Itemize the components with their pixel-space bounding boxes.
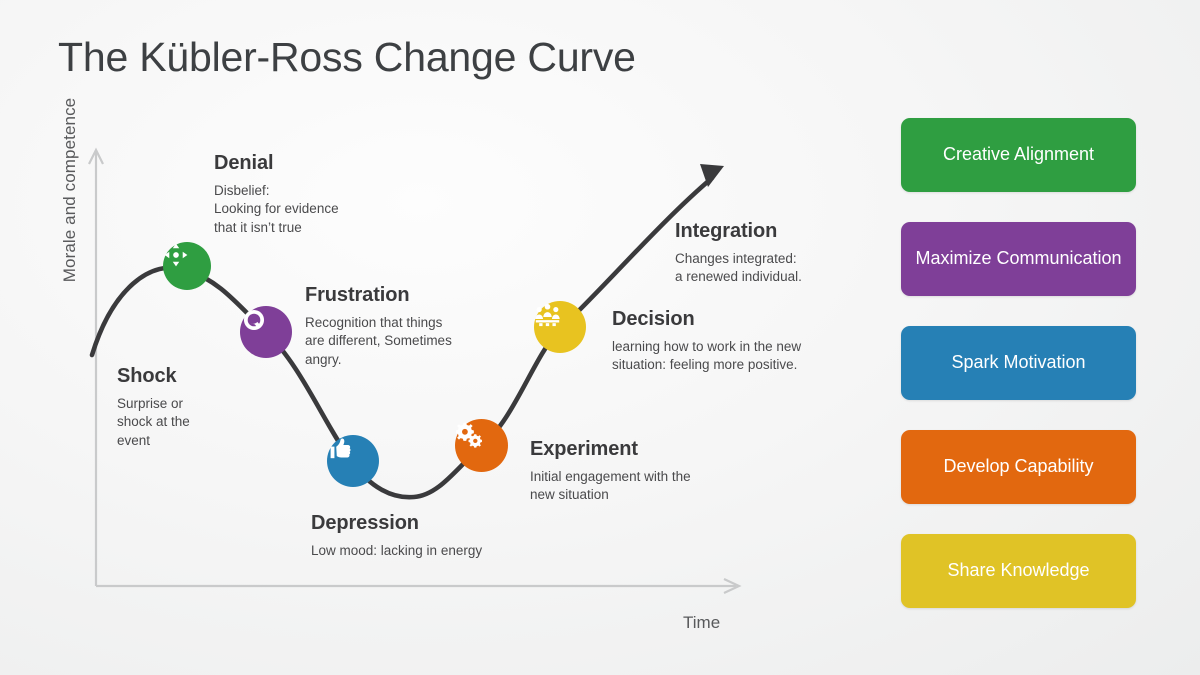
stage-annotation-denial: Denial Disbelief: Looking for evidence t… (214, 152, 339, 237)
milestone-marker-decision[interactable] (534, 301, 586, 353)
pill-label: Spark Motivation (951, 351, 1085, 374)
stage-annotation-integration: Integration Changes integrated: a renewe… (675, 220, 802, 287)
stage-description: Disbelief: Looking for evidence that it … (214, 182, 339, 237)
milestone-marker-experiment[interactable] (455, 419, 508, 472)
change-curve-chart: Morale and competence Time (0, 0, 880, 675)
stage-description: Changes integrated: a renewed individual… (675, 250, 802, 287)
search-ring-icon (240, 306, 268, 334)
pill-label: Share Knowledge (947, 559, 1089, 582)
thumbs-up-icon (327, 435, 354, 462)
milestone-marker-depression[interactable] (327, 435, 379, 487)
people-group-icon (534, 301, 561, 328)
pill-develop-capability[interactable]: Develop Capability (901, 430, 1136, 504)
milestone-marker-frustration[interactable] (240, 306, 292, 358)
pill-label: Maximize Communication (915, 247, 1121, 270)
stage-annotation-frustration: Frustration Recognition that things are … (305, 284, 452, 369)
stage-description: Recognition that things are different, S… (305, 314, 452, 369)
strategy-pill-list: Creative Alignment Maximize Communicatio… (901, 118, 1136, 638)
pill-label: Develop Capability (943, 455, 1093, 478)
move-arrows-icon (163, 242, 189, 268)
stage-description: learning how to work in the new situatio… (612, 338, 801, 375)
milestone-marker-denial[interactable] (163, 242, 211, 290)
stage-description: Initial engagement with the new situatio… (530, 468, 691, 505)
y-axis-label: Morale and competence (60, 80, 80, 300)
slide-canvas: The Kübler-Ross Change Curve Morale and … (0, 0, 1200, 675)
pill-label: Creative Alignment (943, 143, 1094, 166)
stage-description: Surprise or shock at the event (117, 395, 190, 450)
stage-annotation-decision: Decision learning how to work in the new… (612, 308, 801, 375)
y-axis (89, 150, 103, 586)
stage-annotation-shock: Shock Surprise or shock at the event (117, 365, 190, 450)
stage-title: Integration (675, 220, 802, 243)
stage-title: Depression (311, 512, 482, 535)
stage-title: Experiment (530, 438, 691, 461)
pill-creative-alignment[interactable]: Creative Alignment (901, 118, 1136, 192)
gears-icon (455, 419, 484, 448)
stage-title: Decision (612, 308, 801, 331)
stage-annotation-experiment: Experiment Initial engagement with the n… (530, 438, 691, 505)
pill-spark-motivation[interactable]: Spark Motivation (901, 326, 1136, 400)
x-axis-label: Time (683, 613, 720, 633)
pill-maximize-communication[interactable]: Maximize Communication (901, 222, 1136, 296)
stage-description: Low mood: lacking in energy (311, 542, 482, 560)
x-axis (96, 579, 739, 593)
stage-annotation-depression: Depression Low mood: lacking in energy (311, 512, 482, 560)
stage-title: Frustration (305, 284, 452, 307)
stage-title: Denial (214, 152, 339, 175)
pill-share-knowledge[interactable]: Share Knowledge (901, 534, 1136, 608)
stage-title: Shock (117, 365, 190, 388)
